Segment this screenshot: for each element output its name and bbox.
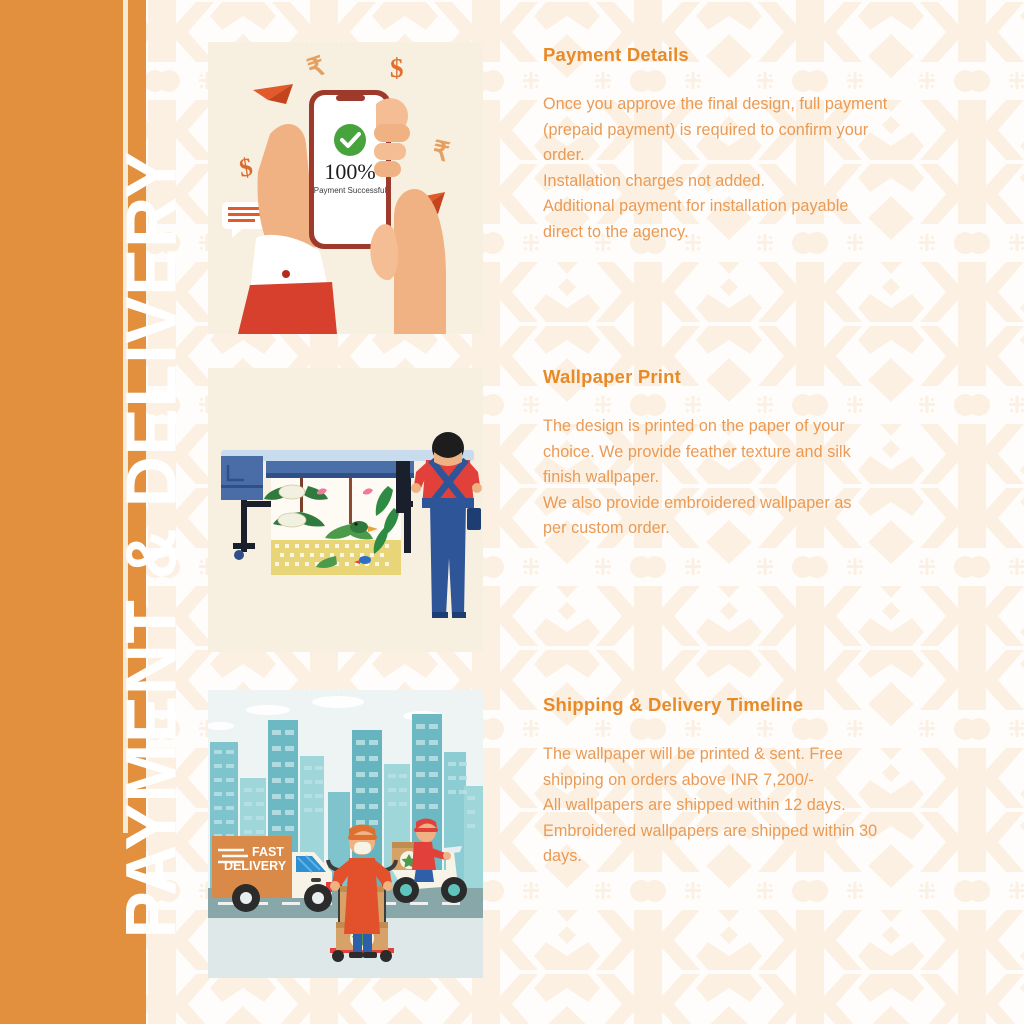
print-text-column: Wallpaper Print The design is printed on…	[543, 366, 963, 542]
truck-label-line-2: DELIVERY	[224, 859, 287, 873]
print-line-5: per custom order.	[543, 516, 963, 542]
wallpaper-print-heading: Wallpaper Print	[543, 366, 963, 388]
wallpaper-print-body: The design is printed on the paper of yo…	[543, 414, 963, 542]
print-line-1: The design is printed on the paper of yo…	[543, 414, 963, 440]
content-area: ₹ $ ₹ $	[0, 0, 1024, 1024]
shipping-line-2: shipping on orders above INR 7,200/-	[543, 768, 963, 794]
shipping-delivery-body: The wallpaper will be printed & sent. Fr…	[543, 742, 963, 870]
shipping-line-1: The wallpaper will be printed & sent. Fr…	[543, 742, 963, 768]
city-delivery-illustration: FAST DELIVERY	[208, 690, 483, 978]
shipping-illustration-card: FAST DELIVERY	[208, 690, 483, 978]
shipping-line-4: Embroidered wallpapers are shipped withi…	[543, 819, 963, 845]
large-format-printer-illustration	[208, 368, 483, 652]
shipping-line-3: All wallpapers are shipped within 12 day…	[543, 793, 963, 819]
truck-label-line-1: FAST	[252, 845, 284, 859]
face-mask	[354, 842, 371, 854]
shipping-text-column: Shipping & Delivery Timeline The wallpap…	[543, 694, 963, 870]
print-line-2: choice. We provide feather texture and s…	[543, 440, 963, 466]
print-line-4: We also provide embroidered wallpaper as	[543, 491, 963, 517]
print-illustration-card	[208, 368, 483, 652]
print-line-3: finish wallpaper.	[543, 465, 963, 491]
section-shipping-delivery: FAST DELIVERY	[0, 0, 1024, 340]
shipping-delivery-heading: Shipping & Delivery Timeline	[543, 694, 963, 716]
shipping-line-5: days.	[543, 844, 963, 870]
